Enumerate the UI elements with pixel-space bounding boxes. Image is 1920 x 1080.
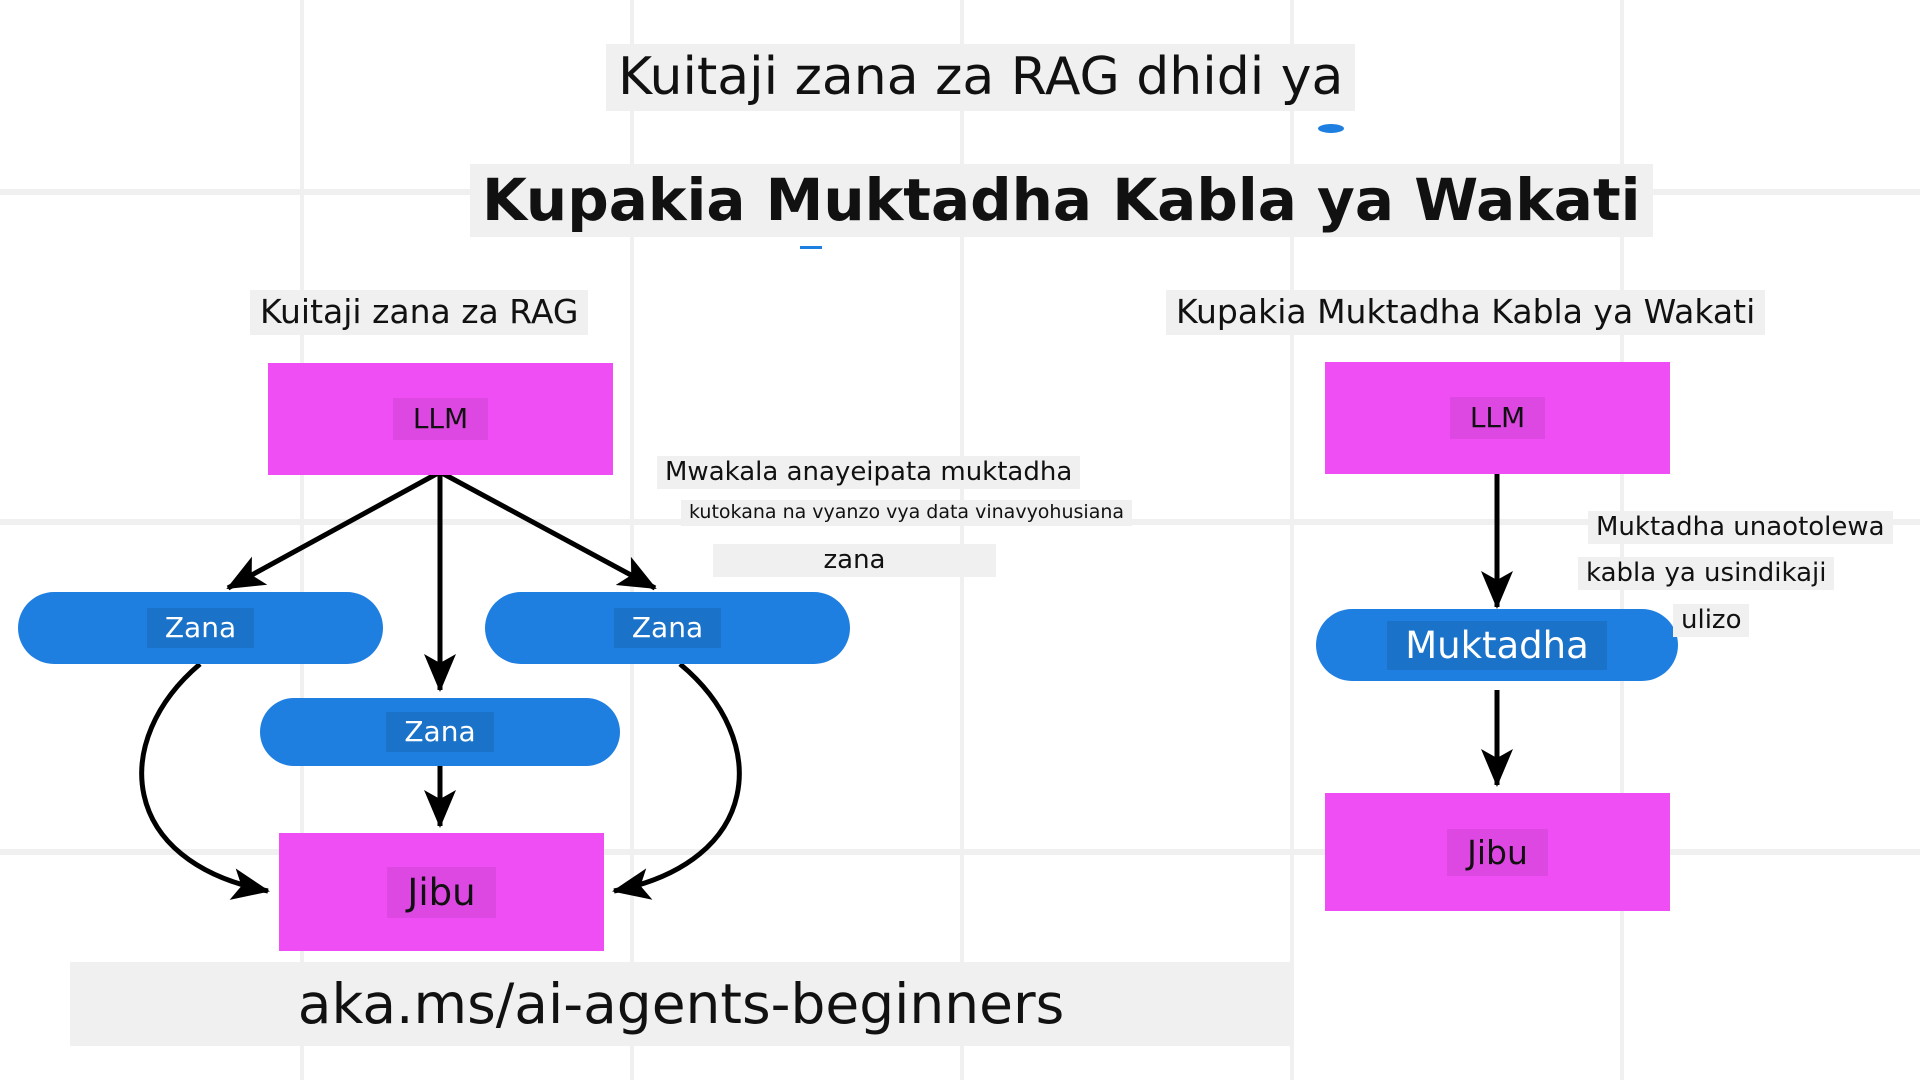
node-answer-right-label: Jibu bbox=[1447, 829, 1548, 876]
arrow-llm-to-tool-left bbox=[228, 472, 440, 588]
note-center-line-1: Mwakala anayeipata muktadha bbox=[657, 456, 1080, 489]
grid-line-vertical bbox=[1290, 0, 1294, 1080]
note-right-line-2: kabla ya usindikaji bbox=[1578, 557, 1834, 590]
node-llm-left[interactable]: LLM bbox=[268, 363, 613, 475]
node-llm-left-label: LLM bbox=[393, 398, 488, 440]
arrow-tool-right-to-answer bbox=[614, 664, 739, 891]
arrow-tool-left-to-answer bbox=[142, 664, 268, 891]
note-right-line-3: ulizo bbox=[1673, 604, 1749, 637]
grid-line-vertical bbox=[960, 0, 964, 1080]
panel-heading-left: Kuitaji zana za RAG bbox=[250, 290, 588, 335]
panel-heading-right: Kupakia Muktadha Kabla ya Wakati bbox=[1166, 290, 1765, 335]
node-tool-middle-label: Zana bbox=[386, 712, 493, 752]
node-tool-left[interactable]: Zana bbox=[18, 592, 383, 664]
title-line-1: Kuitaji zana za RAG dhidi ya bbox=[606, 44, 1355, 111]
node-answer-left-label: Jibu bbox=[387, 867, 495, 918]
note-right-line-1: Muktadha unaotolewa bbox=[1588, 511, 1893, 544]
node-tool-left-label: Zana bbox=[147, 608, 254, 648]
accent-dot-icon bbox=[1318, 124, 1344, 133]
title-line-2: Kupakia Muktadha Kabla ya Wakati bbox=[470, 164, 1653, 237]
node-llm-right-label: LLM bbox=[1450, 397, 1545, 439]
node-tool-right-label: Zana bbox=[614, 608, 721, 648]
grid-line-vertical bbox=[630, 0, 634, 1080]
node-tool-middle[interactable]: Zana bbox=[260, 698, 620, 766]
node-answer-right[interactable]: Jibu bbox=[1325, 793, 1670, 911]
node-answer-left[interactable]: Jibu bbox=[279, 833, 604, 951]
node-context-right-label: Muktadha bbox=[1387, 621, 1607, 670]
arrow-llm-to-tool-right bbox=[440, 472, 655, 588]
note-center-line-2: kutokana na vyanzo vya data vinavyohusia… bbox=[681, 500, 1132, 526]
note-center-line-3: zana bbox=[713, 544, 996, 577]
node-context-right[interactable]: Muktadha bbox=[1316, 609, 1678, 681]
accent-underline-icon bbox=[800, 246, 822, 249]
footer-url[interactable]: aka.ms/ai-agents-beginners bbox=[70, 962, 1292, 1046]
node-llm-right[interactable]: LLM bbox=[1325, 362, 1670, 474]
diagram-canvas: Kuitaji zana za RAG dhidi ya Kupakia Muk… bbox=[0, 0, 1920, 1080]
node-tool-right[interactable]: Zana bbox=[485, 592, 850, 664]
